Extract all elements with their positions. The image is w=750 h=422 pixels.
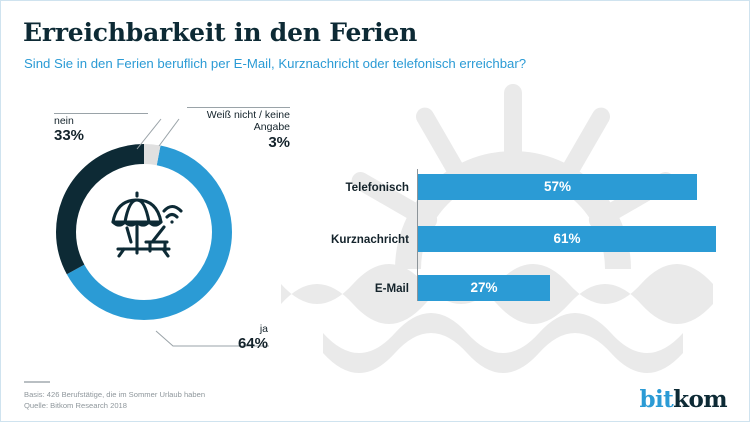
footer-divider <box>24 381 50 383</box>
bar-value-label: 61% <box>418 226 716 252</box>
bar-value-label: 57% <box>418 174 697 200</box>
footer-quelle: Quelle: Bitkom Research 2018 <box>24 400 205 411</box>
bar-value-label: 27% <box>418 275 550 301</box>
bar-category-label: E-Mail <box>341 282 409 295</box>
footer-basis: Basis: 426 Berufstätige, die im Sommer U… <box>24 389 205 400</box>
bitkom-logo: bitkom <box>640 386 727 413</box>
logo-part-kom: kom <box>673 386 727 413</box>
bar-category-label: Telefonisch <box>331 181 409 194</box>
bar-category-label: Kurznachricht <box>321 233 409 246</box>
logo-part-bit: bit <box>640 386 674 413</box>
footer-notes: Basis: 426 Berufstätige, die im Sommer U… <box>24 389 205 411</box>
bar-chart: Telefonisch 57% Kurznachricht 61% E-Mail… <box>1 1 750 422</box>
infographic-page: Erreichbarkeit in den Ferien Sind Sie in… <box>0 0 750 422</box>
